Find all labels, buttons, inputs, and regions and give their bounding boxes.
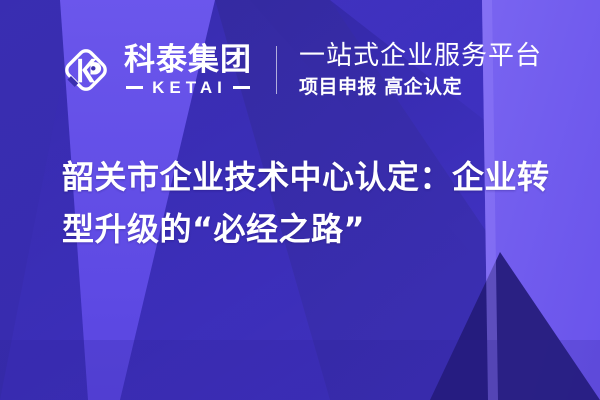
logo-company-cn: 科泰集团 — [124, 44, 252, 77]
facet-bottom-vignette — [0, 340, 600, 400]
tagline-secondary: 项目申报 高企认定 — [299, 76, 542, 98]
logo-company-en: KETAI — [143, 79, 233, 96]
logo-wordmark: 科泰集团 KETAI — [124, 44, 252, 97]
logo-company-en-row: KETAI — [124, 79, 252, 96]
logo-dash-left — [126, 86, 143, 89]
header-divider — [276, 46, 277, 94]
banner-header: 科泰集团 KETAI 一站式企业服务平台 项目申报 高企认定 — [58, 38, 542, 102]
logo-dash-right — [233, 86, 250, 89]
tagline-primary: 一站式企业服务平台 — [299, 41, 542, 72]
ketai-diamond-kp-monogram-icon — [58, 42, 114, 98]
brand-logo[interactable]: 科泰集团 KETAI — [58, 39, 252, 101]
tagline-block: 一站式企业服务平台 项目申报 高企认定 — [299, 41, 542, 99]
promo-banner: 科泰集团 KETAI 一站式企业服务平台 项目申报 高企认定 韶关市企业技术中心… — [0, 0, 600, 400]
page-title: 韶关市企业技术中心认定：企业转型升级的“必经之路” — [62, 152, 562, 256]
